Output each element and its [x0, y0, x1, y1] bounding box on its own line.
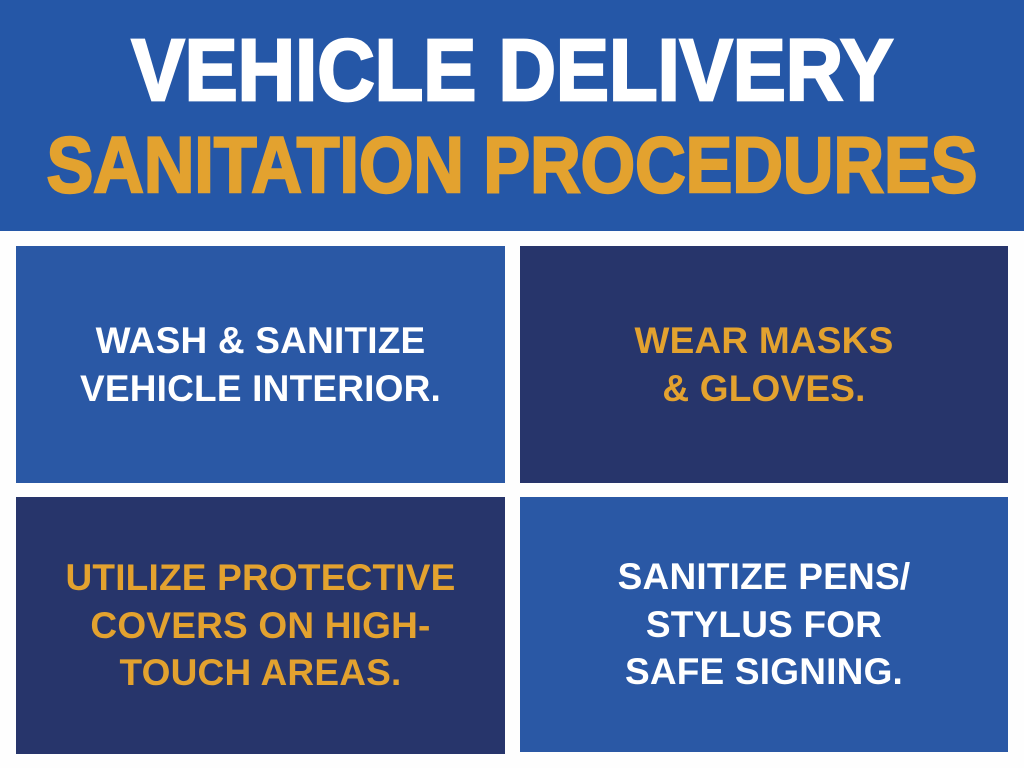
page-title-line-2: SANITATION PROCEDURES: [47, 126, 978, 204]
procedure-card-sanitize-pens-stylus: SANITIZE PENS/ STYLUS FOR SAFE SIGNING.: [520, 497, 1008, 752]
procedure-card-label: WEAR MASKS & GLOVES.: [635, 317, 894, 412]
poster-root: VEHICLE DELIVERY SANITATION PROCEDURES W…: [0, 0, 1024, 768]
procedure-card-label: SANITIZE PENS/ STYLUS FOR SAFE SIGNING.: [618, 553, 911, 695]
page-title-line-1: VEHICLE DELIVERY: [131, 26, 893, 113]
procedure-card-wear-masks-gloves: WEAR MASKS & GLOVES.: [520, 246, 1008, 483]
procedure-card-wash-sanitize-interior: WASH & SANITIZE VEHICLE INTERIOR.: [16, 246, 505, 483]
procedure-card-label: WASH & SANITIZE VEHICLE INTERIOR.: [80, 317, 441, 412]
procedure-grid: WASH & SANITIZE VEHICLE INTERIOR. WEAR M…: [16, 246, 1008, 754]
procedure-card-label: UTILIZE PROTECTIVE COVERS ON HIGH- TOUCH…: [65, 554, 455, 696]
header-banner: VEHICLE DELIVERY SANITATION PROCEDURES: [0, 0, 1024, 231]
procedure-card-protective-covers: UTILIZE PROTECTIVE COVERS ON HIGH- TOUCH…: [16, 497, 505, 754]
